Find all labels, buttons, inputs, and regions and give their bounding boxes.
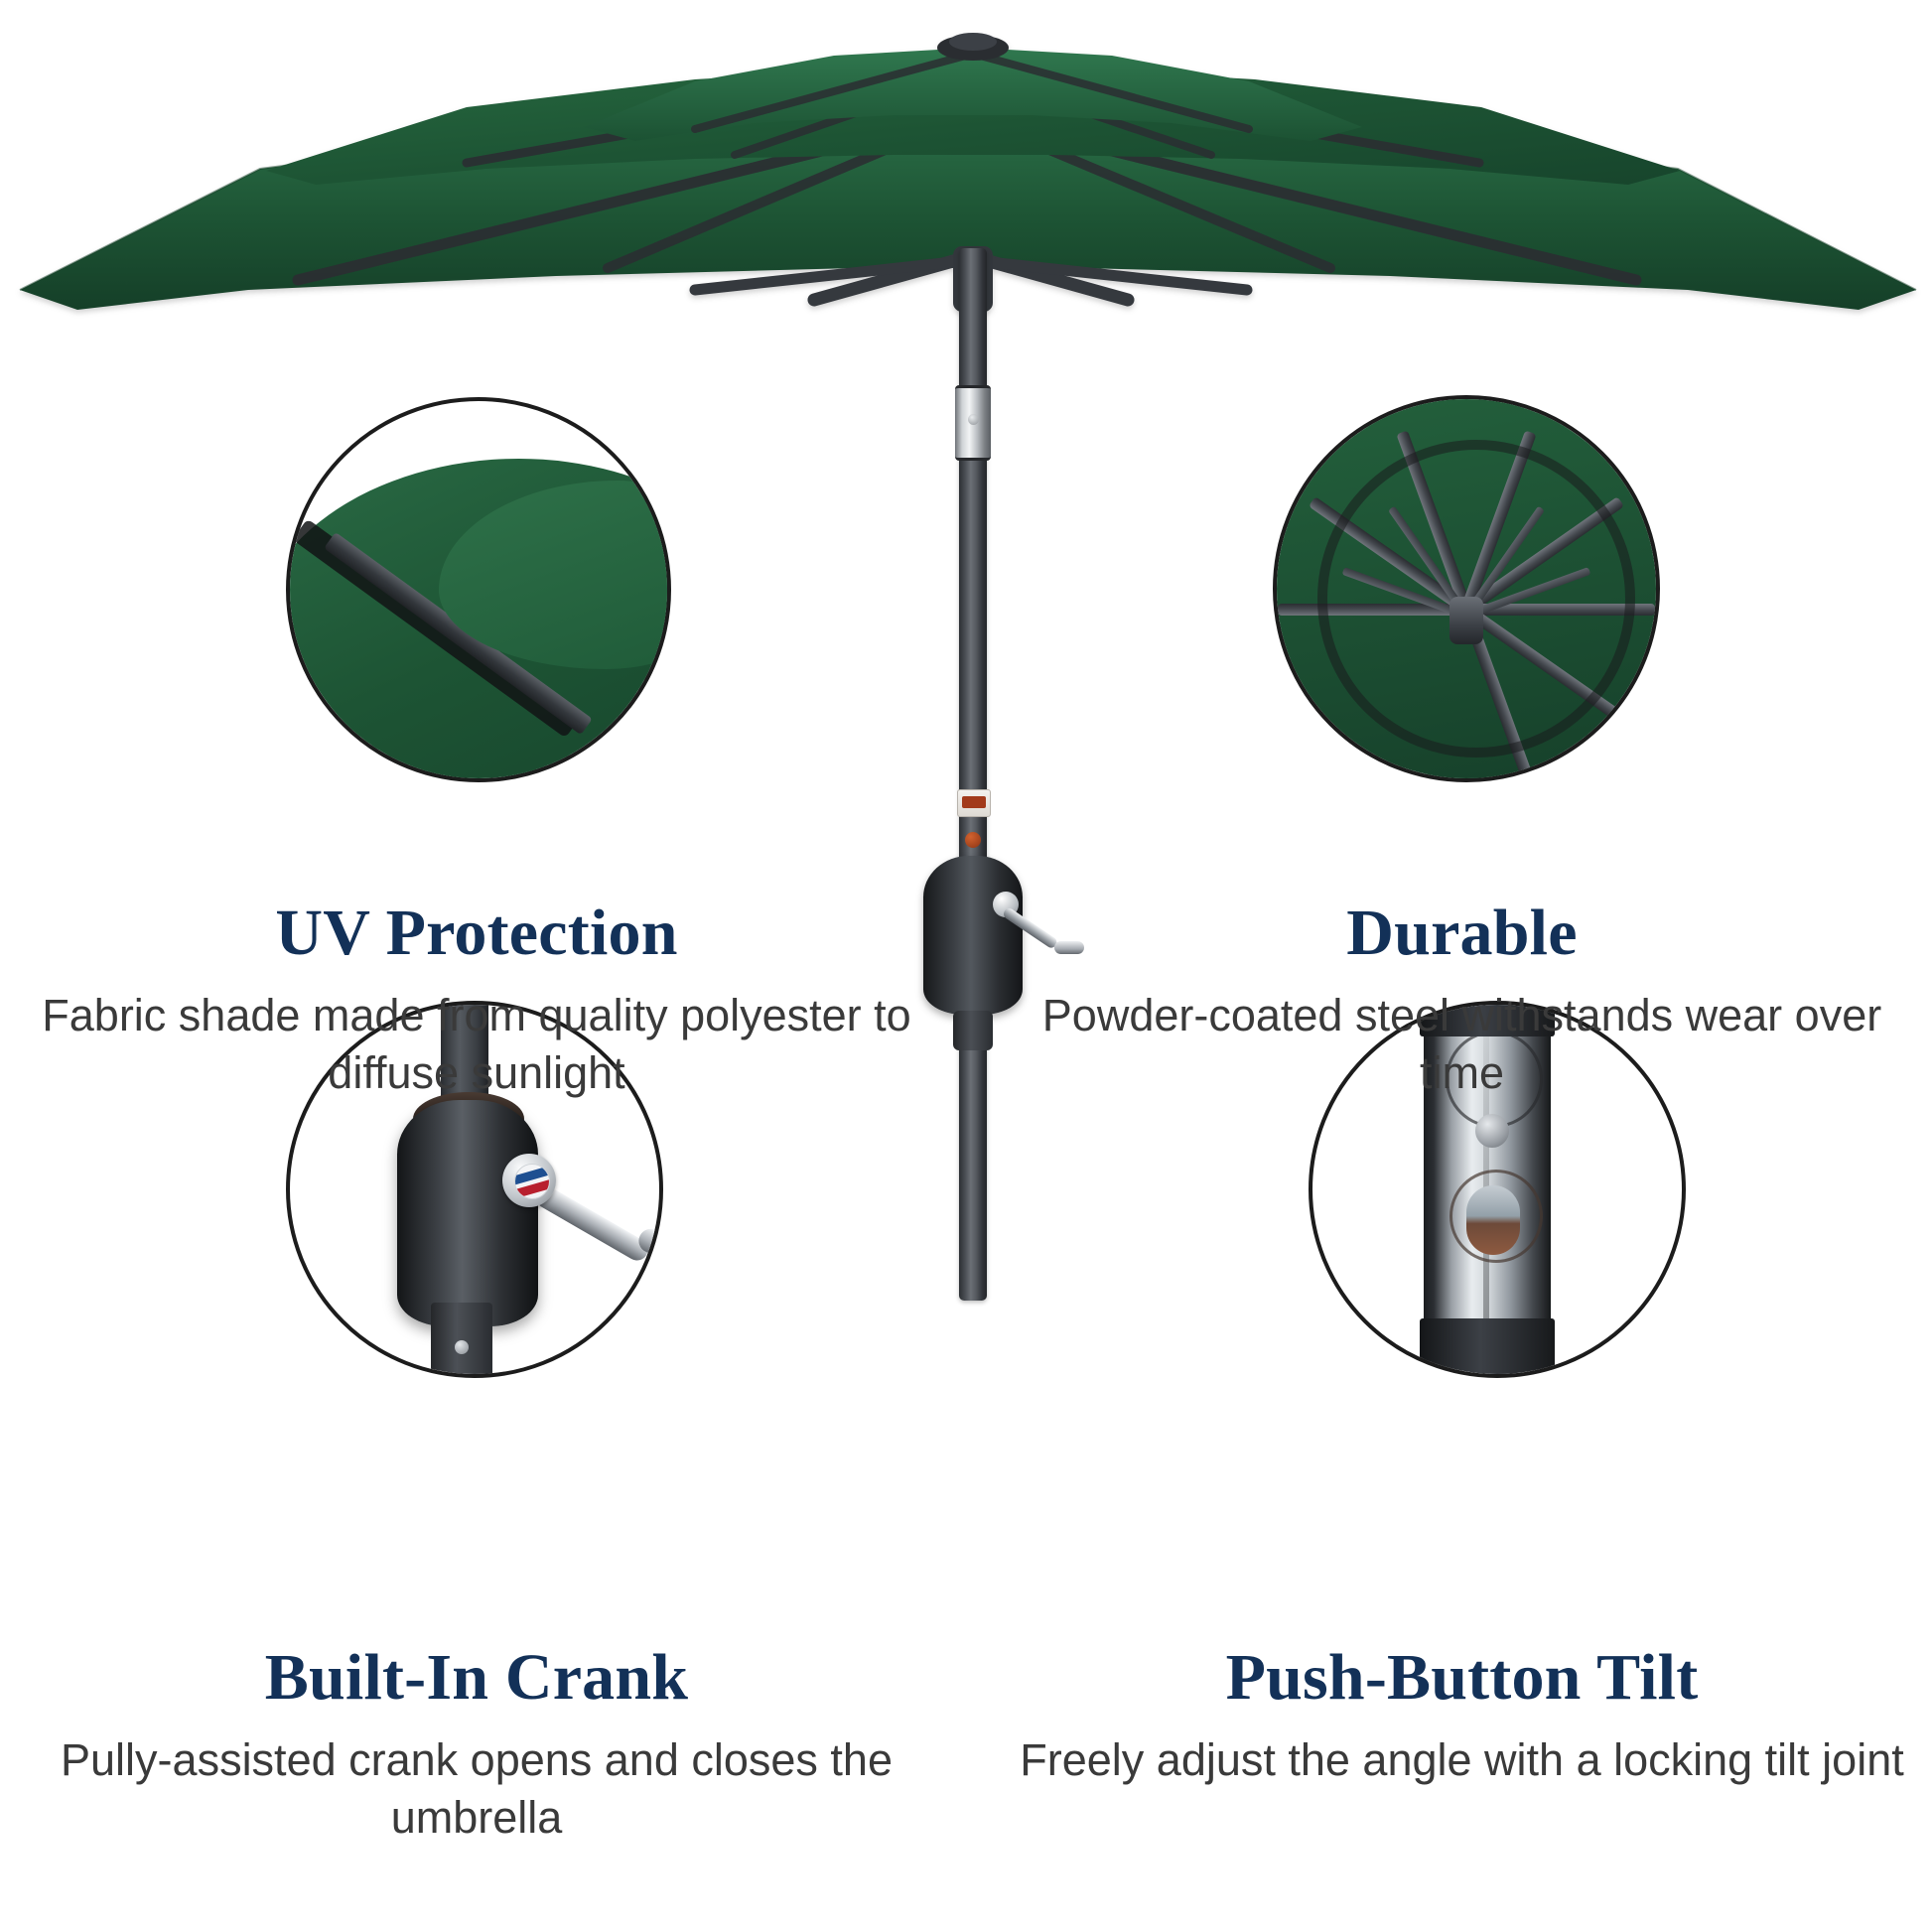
pole-collar: [953, 1011, 993, 1050]
feature-title: Built-In Crank: [30, 1643, 923, 1712]
feature-uv-protection: UV Protection Fabric shade made from qua…: [30, 898, 923, 1101]
feature-description: Fabric shade made from quality polyester…: [30, 987, 923, 1101]
callout-uv-protection: [286, 397, 671, 782]
pole-label-sticker: [957, 789, 991, 817]
crank-housing: [923, 856, 1023, 1015]
callout-durable: [1273, 395, 1660, 782]
feature-title: Push-Button Tilt: [1013, 1643, 1911, 1712]
feature-title: Durable: [1013, 898, 1911, 967]
canopy-fabric-edge-icon: [290, 401, 667, 778]
feature-title: UV Protection: [30, 898, 923, 967]
feature-description: Powder-coated steel withstands wear over…: [1013, 987, 1911, 1101]
rib-hub-underside-icon: [1277, 399, 1656, 778]
infographic-canvas: UV Protection Fabric shade made from qua…: [0, 0, 1932, 1932]
feature-built-in-crank: Built-In Crank Pully-assisted crank open…: [30, 1643, 923, 1846]
feature-description: Freely adjust the angle with a locking t…: [1013, 1731, 1911, 1789]
pole-button: [965, 832, 981, 848]
feature-push-button-tilt: Push-Button Tilt Freely adjust the angle…: [1013, 1643, 1911, 1789]
tilt-joint: [955, 385, 991, 461]
feature-durable: Durable Powder-coated steel withstands w…: [1013, 898, 1911, 1101]
feature-description: Pully-assisted crank opens and closes th…: [30, 1731, 923, 1846]
